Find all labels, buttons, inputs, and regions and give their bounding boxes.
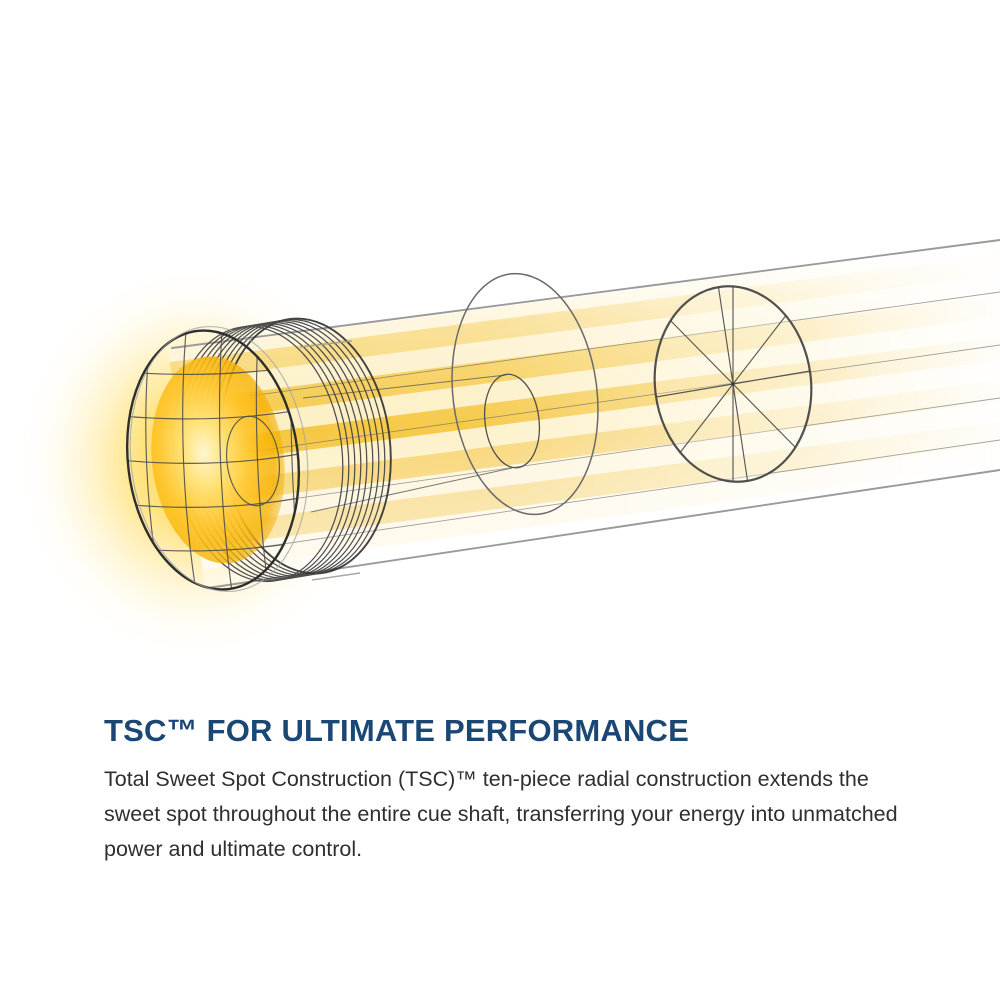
radial-hub	[731, 382, 734, 385]
body-paragraph: Total Sweet Spot Construction (TSC)™ ten…	[104, 762, 904, 866]
page-title: TSC™ FOR ULTIMATE PERFORMANCE	[104, 714, 689, 748]
page-root: TSC™ FOR ULTIMATE PERFORMANCE Total Swee…	[0, 0, 1000, 1000]
cue-shaft-svg	[0, 0, 1000, 690]
caption-block: TSC™ FOR ULTIMATE PERFORMANCE Total Swee…	[0, 690, 1000, 1000]
cue-shaft-illustration	[0, 0, 1000, 690]
